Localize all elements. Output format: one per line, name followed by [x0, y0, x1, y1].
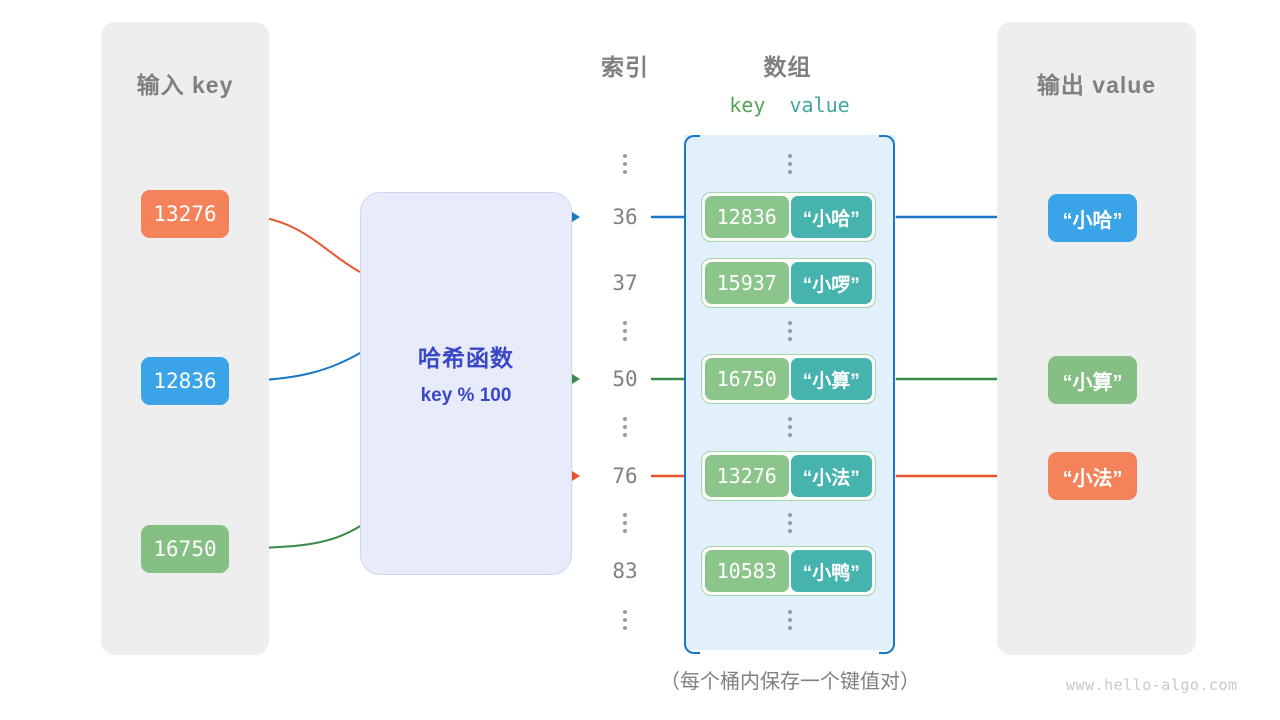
output-value-chip-0[interactable]: “小哈”: [1048, 194, 1137, 242]
bucket-value-36: “小哈”: [791, 196, 873, 238]
input-panel-title: 输入 key: [101, 66, 269, 100]
vertical-ellipsis: [570, 417, 680, 437]
output-value-chip-2[interactable]: “小法”: [1048, 452, 1137, 500]
output-value-panel: 输出 value: [997, 22, 1196, 655]
array-right-bracket: [879, 135, 895, 654]
index-label-36: 36: [570, 205, 680, 229]
value-column-label: value: [790, 93, 850, 117]
vertical-ellipsis: [684, 154, 895, 174]
bucket-value-50: “小算”: [791, 358, 873, 400]
bucket-76[interactable]: 13276“小法”: [701, 451, 876, 501]
output-value-chip-1[interactable]: “小算”: [1048, 356, 1137, 404]
input-key-chip-1[interactable]: 12836: [141, 357, 229, 405]
hash-function-title: 哈希函数: [361, 339, 571, 373]
index-column-heading: 索引: [570, 48, 680, 82]
bucket-key-83: 10583: [705, 550, 789, 592]
input-key-chip-2[interactable]: 16750: [141, 525, 229, 573]
index-column: 3637507683: [570, 135, 680, 650]
array-container: 12836“小哈”15937“小啰”16750“小算”13276“小法”1058…: [684, 135, 895, 650]
bucket-key-36: 12836: [705, 196, 789, 238]
bucket-37[interactable]: 15937“小啰”: [701, 258, 876, 308]
hash-function-formula: key % 100: [361, 385, 571, 407]
bucket-key-76: 13276: [705, 455, 789, 497]
diagram-caption: （每个桶内保存一个键值对）: [590, 665, 990, 694]
index-label-83: 83: [570, 559, 680, 583]
index-label-37: 37: [570, 271, 680, 295]
vertical-ellipsis: [684, 417, 895, 437]
watermark: www.hello-algo.com: [1066, 676, 1238, 694]
bucket-key-37: 15937: [705, 262, 789, 304]
bucket-value-37: “小啰”: [791, 262, 873, 304]
vertical-ellipsis: [684, 321, 895, 341]
output-panel-title: 输出 value: [997, 66, 1196, 100]
array-heading: 数组: [730, 48, 845, 82]
key-column-label: key: [729, 93, 765, 117]
vertical-ellipsis: [570, 154, 680, 174]
hash-function-box: 哈希函数 key % 100: [360, 192, 572, 575]
key-value-column-labels: key value: [684, 93, 895, 117]
array-left-bracket: [684, 135, 700, 654]
index-label-76: 76: [570, 464, 680, 488]
vertical-ellipsis: [684, 513, 895, 533]
bucket-50[interactable]: 16750“小算”: [701, 354, 876, 404]
vertical-ellipsis: [684, 610, 895, 630]
bucket-83[interactable]: 10583“小鸭”: [701, 546, 876, 596]
bucket-key-50: 16750: [705, 358, 789, 400]
vertical-ellipsis: [570, 610, 680, 630]
vertical-ellipsis: [570, 513, 680, 533]
bucket-36[interactable]: 12836“小哈”: [701, 192, 876, 242]
bucket-value-83: “小鸭”: [791, 550, 873, 592]
index-label-50: 50: [570, 367, 680, 391]
input-key-chip-0[interactable]: 13276: [141, 190, 229, 238]
vertical-ellipsis: [570, 321, 680, 341]
bucket-value-76: “小法”: [791, 455, 873, 497]
diagram-canvas: 输入 key 13276 12836 16750 哈希函数 key % 100 …: [0, 0, 1280, 720]
